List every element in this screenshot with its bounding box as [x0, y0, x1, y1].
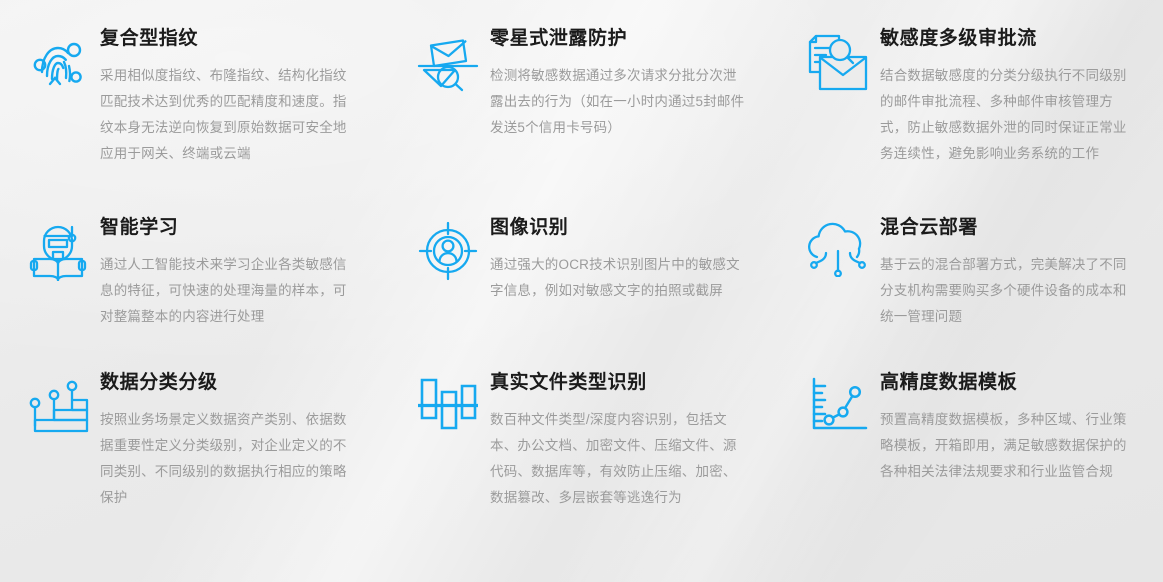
feature-description: 数百种文件类型/深度内容识别，包括文本、办公文档、加密文件、压缩文件、源代码、数…: [490, 407, 748, 511]
feature-title: 图像识别: [490, 217, 756, 239]
feature-card: 混合云部署 基于云的混合部署方式，完美解决了不同分支机构需要购买多个硬件设备的成…: [780, 205, 1163, 360]
feature-card: 敏感度多级审批流 结合数据敏感度的分类分级执行不同级别的邮件审批流程、多种邮件审…: [780, 0, 1163, 205]
robot-reading-icon: [22, 217, 94, 289]
document-mail-review-icon: [802, 28, 874, 100]
feature-description: 采用相似度指纹、布隆指纹、结构化指纹匹配技术达到优秀的匹配精度和速度。指纹本身无…: [100, 63, 358, 167]
target-person-icon: [412, 217, 484, 289]
feature-card: 数据分类分级 按照业务场景定义数据资产类别、依据数据重要性定义分类级别，对企业定…: [0, 360, 390, 582]
feature-card: 高精度数据模板 预置高精度数据模板，多种区域、行业策略模板，开箱即用，满足敏感数…: [780, 360, 1163, 582]
feature-title: 混合云部署: [880, 217, 1139, 239]
line-chart-icon: [802, 372, 874, 444]
fingerprint-icon: [22, 28, 94, 100]
feature-card: 零星式泄露防护 检测将敏感数据通过多次请求分批分次泄露出去的行为（如在一小时内通…: [390, 0, 780, 205]
feature-description: 基于云的混合部署方式，完美解决了不同分支机构需要购买多个硬件设备的成本和统一管理…: [880, 252, 1130, 330]
file-type-bars-icon: [412, 372, 484, 444]
feature-card: 复合型指纹 采用相似度指纹、布隆指纹、结构化指纹匹配技术达到优秀的匹配精度和速度…: [0, 0, 390, 205]
feature-title: 复合型指纹: [100, 28, 366, 50]
feature-title: 智能学习: [100, 217, 366, 239]
feature-card: 图像识别 通过强大的OCR技术识别图片中的敏感文字信息，例如对敏感文字的拍照或截…: [390, 205, 780, 360]
hybrid-cloud-icon: [802, 217, 874, 289]
feature-description: 通过人工智能技术来学习企业各类敏感信息的特征，可快速的处理海量的样本，可对整篇整…: [100, 252, 358, 330]
feature-description: 通过强大的OCR技术识别图片中的敏感文字信息，例如对敏感文字的拍照或截屏: [490, 252, 748, 304]
feature-title: 零星式泄露防护: [490, 28, 756, 50]
feature-title: 数据分类分级: [100, 372, 366, 394]
feature-card: 真实文件类型识别 数百种文件类型/深度内容识别，包括文本、办公文档、加密文件、压…: [390, 360, 780, 582]
envelope-search-icon: [412, 28, 484, 100]
feature-title: 敏感度多级审批流: [880, 28, 1139, 50]
feature-description: 结合数据敏感度的分类分级执行不同级别的邮件审批流程、多种邮件审核管理方式，防止敏…: [880, 63, 1130, 167]
feature-description: 预置高精度数据模板，多种区域、行业策略模板，开箱即用，满足敏感数据保护的各种相关…: [880, 407, 1130, 485]
feature-description: 检测将敏感数据通过多次请求分批分次泄露出去的行为（如在一小时内通过5封邮件发送5…: [490, 63, 748, 141]
feature-card: 智能学习 通过人工智能技术来学习企业各类敏感信息的特征，可快速的处理海量的样本，…: [0, 205, 390, 360]
feature-title: 真实文件类型识别: [490, 372, 756, 394]
data-layers-icon: [22, 372, 94, 444]
feature-grid: 复合型指纹 采用相似度指纹、布隆指纹、结构化指纹匹配技术达到优秀的匹配精度和速度…: [0, 0, 1163, 582]
feature-title: 高精度数据模板: [880, 372, 1139, 394]
feature-description: 按照业务场景定义数据资产类别、依据数据重要性定义分类级别，对企业定义的不同类别、…: [100, 407, 358, 511]
